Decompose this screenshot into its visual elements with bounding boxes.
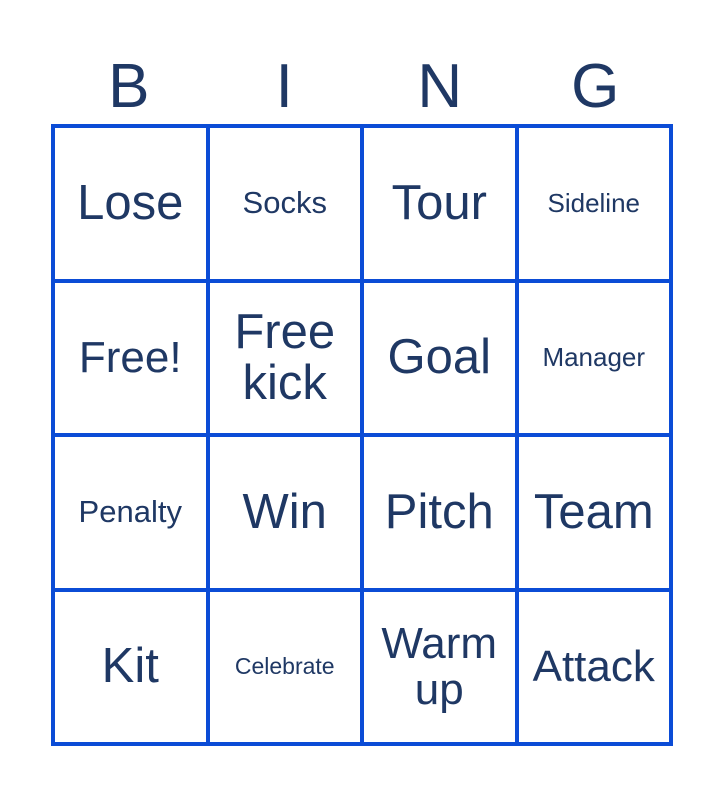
bingo-cell-r1c1[interactable]: Lose [55, 128, 206, 279]
bingo-cell-label: Lose [57, 178, 204, 229]
bingo-cell-r1c4[interactable]: Sideline [519, 128, 670, 279]
bingo-cell-r4c3[interactable]: Warm up [364, 592, 515, 743]
bingo-cell-r4c2[interactable]: Celebrate [210, 592, 361, 743]
bingo-header-letter-n: N [417, 56, 462, 118]
bingo-cell-r2c2[interactable]: Free kick [210, 283, 361, 434]
bingo-header-letter-i: I [276, 56, 293, 118]
bingo-header-letter-b: B [108, 56, 149, 118]
bingo-cell-label: Warm up [366, 621, 513, 713]
bingo-cell-r2c4[interactable]: Manager [519, 283, 670, 434]
bingo-header-cell-0: B [51, 46, 207, 118]
bingo-cell-r2c1-free[interactable]: Free! [55, 283, 206, 434]
bingo-cell-label: Tour [366, 178, 513, 229]
bingo-cell-label: Goal [366, 332, 513, 383]
bingo-cell-r4c1[interactable]: Kit [55, 592, 206, 743]
bingo-card: B I N G Lose Socks Tour Sideline Free! [0, 0, 725, 800]
bingo-cell-r3c1[interactable]: Penalty [55, 437, 206, 588]
bingo-cell-r1c3[interactable]: Tour [364, 128, 515, 279]
bingo-grid: Lose Socks Tour Sideline Free! Free kick… [51, 124, 673, 746]
bingo-cell-r1c2[interactable]: Socks [210, 128, 361, 279]
bingo-cell-label: Kit [57, 641, 204, 692]
bingo-cell-label: Socks [212, 187, 359, 219]
bingo-header-cell-3: G [518, 46, 674, 118]
bingo-cell-r2c3[interactable]: Goal [364, 283, 515, 434]
bingo-cell-label: Penalty [57, 496, 204, 528]
bingo-cell-r3c4[interactable]: Team [519, 437, 670, 588]
bingo-cell-label: Attack [521, 644, 668, 690]
bingo-cell-label: Win [212, 487, 359, 538]
bingo-header-letter-g: G [571, 56, 619, 118]
bingo-cell-r3c2[interactable]: Win [210, 437, 361, 588]
bingo-cell-label: Manager [521, 344, 668, 371]
bingo-header-row: B I N G [51, 46, 673, 118]
bingo-cell-label: Team [521, 487, 668, 538]
bingo-cell-label: Pitch [366, 487, 513, 538]
bingo-header-cell-1: I [207, 46, 363, 118]
bingo-header-cell-2: N [362, 46, 518, 118]
bingo-cell-r3c3[interactable]: Pitch [364, 437, 515, 588]
bingo-cell-label: Free! [57, 335, 204, 381]
bingo-cell-r4c4[interactable]: Attack [519, 592, 670, 743]
bingo-cell-label: Free kick [212, 307, 359, 409]
bingo-cell-label: Sideline [521, 190, 668, 217]
bingo-cell-label: Celebrate [212, 655, 359, 679]
